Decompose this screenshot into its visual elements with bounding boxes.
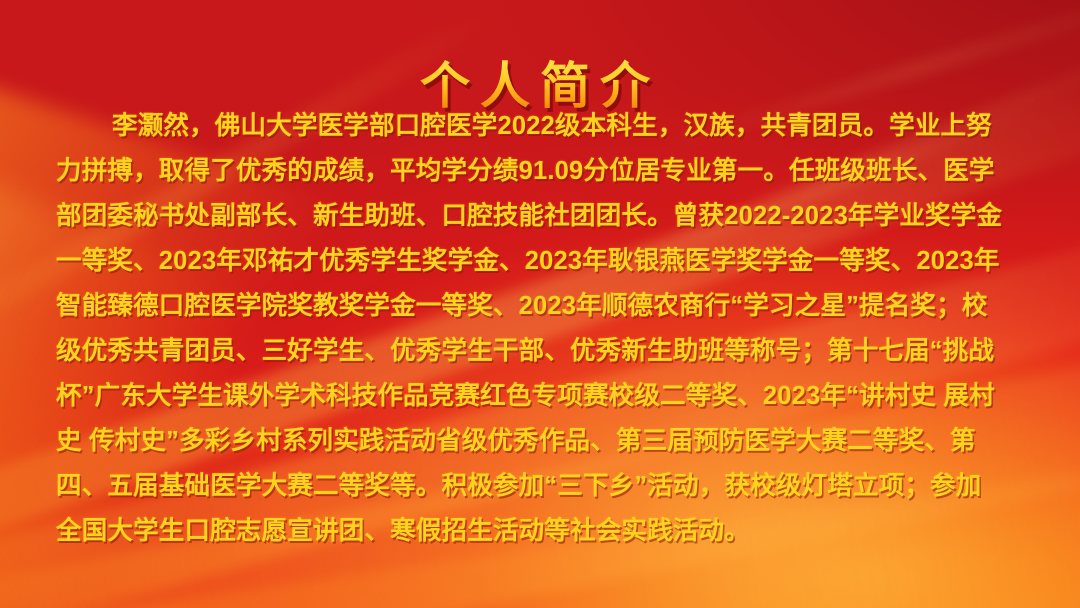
body-line-3: 部团委秘书处副部长、新生助班、口腔技能社团团长。曾获2022-2023年学业奖学… xyxy=(56,194,1028,239)
body-line-8: 史 传村史”多彩乡村系列实践活动省级优秀作品、第三届预防医学大赛二等奖、第 xyxy=(56,419,1028,464)
body-line-2: 力拼搏，取得了优秀的成绩，平均学分绩91.09分位居专业第一。任班级班长、医学 xyxy=(56,149,1028,194)
body-line-9: 四、五届基础医学大赛二等奖等。积极参加“三下乡”活动，获校级灯塔立项；参加 xyxy=(56,464,1028,509)
body-line-6: 级优秀共青团员、三好学生、优秀学生干部、优秀新生助班等称号；第十七届“挑战 xyxy=(56,329,1028,374)
slide-content: 个人简介 李灏然，佛山大学医学部口腔医学2022级本科生，汉族，共青团员。学业上… xyxy=(0,0,1080,608)
body-line-5: 智能臻德口腔医学院奖教奖学金一等奖、2023年顺德农商行“学习之星”提名奖；校 xyxy=(56,284,1028,329)
body-line-4: 一等奖、2023年邓祐才优秀学生奖学金、2023年耿银燕医学奖学金一等奖、202… xyxy=(56,239,1028,284)
biography-text-block: 李灏然，佛山大学医学部口腔医学2022级本科生，汉族，共青团员。学业上努 力拼搏… xyxy=(56,104,1028,554)
presentation-slide: 个人简介 李灏然，佛山大学医学部口腔医学2022级本科生，汉族，共青团员。学业上… xyxy=(0,0,1080,608)
body-line-7: 杯”广东大学生课外学术科技作品竞赛红色专项赛校级二等奖、2023年“讲村史 展村 xyxy=(56,374,1028,419)
body-line-10: 全国大学生口腔志愿宣讲团、寒假招生活动等社会实践活动。 xyxy=(56,509,1028,554)
body-line-1: 李灏然，佛山大学医学部口腔医学2022级本科生，汉族，共青团员。学业上努 xyxy=(56,104,1028,149)
